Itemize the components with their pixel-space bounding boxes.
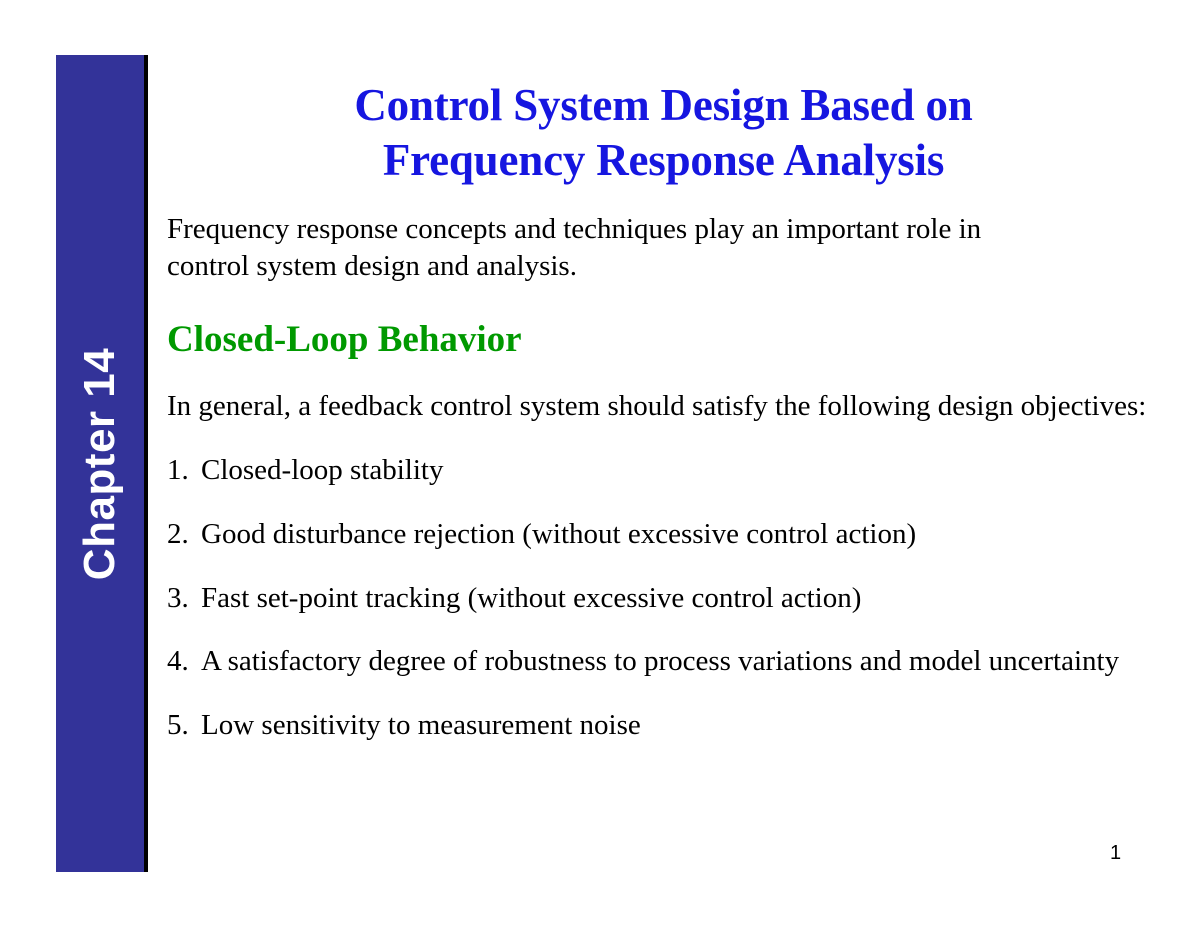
list-item-number: 3. <box>167 580 195 618</box>
slide-content: Control System Design Based on Frequency… <box>167 78 1160 745</box>
intro-paragraph: Frequency response concepts and techniqu… <box>167 211 1067 286</box>
list-item-label: Fast set-point tracking (without excessi… <box>201 582 861 614</box>
list-item-label: A satisfactory degree of robustness to p… <box>201 645 1119 677</box>
list-item: 3. Fast set-point tracking (without exce… <box>167 580 1160 618</box>
list-item-number: 2. <box>167 516 195 554</box>
page-number: 1 <box>1110 843 1121 863</box>
chapter-label-container: Chapter 14 <box>56 55 144 872</box>
list-item-label: Good disturbance rejection (without exce… <box>201 518 916 550</box>
list-item-number: 5. <box>167 707 195 745</box>
list-item: 4. A satisfactory degree of robustness t… <box>167 643 1160 681</box>
chapter-label: Chapter 14 <box>78 347 122 579</box>
page-title-line-1: Control System Design Based on <box>167 78 1160 133</box>
list-item-number: 4. <box>167 643 195 681</box>
chapter-sidebar-bar: Chapter 14 <box>56 55 148 872</box>
design-objectives-list: 1. Closed-loop stability 2. Good disturb… <box>167 452 1160 744</box>
list-item-label: Closed-loop stability <box>201 454 443 486</box>
list-item-number: 1. <box>167 452 195 490</box>
list-item: 1. Closed-loop stability <box>167 452 1160 490</box>
list-item: 2. Good disturbance rejection (without e… <box>167 516 1160 554</box>
list-item: 5. Low sensitivity to measurement noise <box>167 707 1160 745</box>
objectives-intro-paragraph: In general, a feedback control system sh… <box>167 388 1152 426</box>
page-title-line-2: Frequency Response Analysis <box>167 133 1160 188</box>
list-item-label: Low sensitivity to measurement noise <box>201 709 641 741</box>
slide-canvas: Chapter 14 Control System Design Based o… <box>0 0 1200 927</box>
page-title: Control System Design Based on Frequency… <box>167 78 1160 189</box>
section-heading: Closed-Loop Behavior <box>167 318 1160 362</box>
